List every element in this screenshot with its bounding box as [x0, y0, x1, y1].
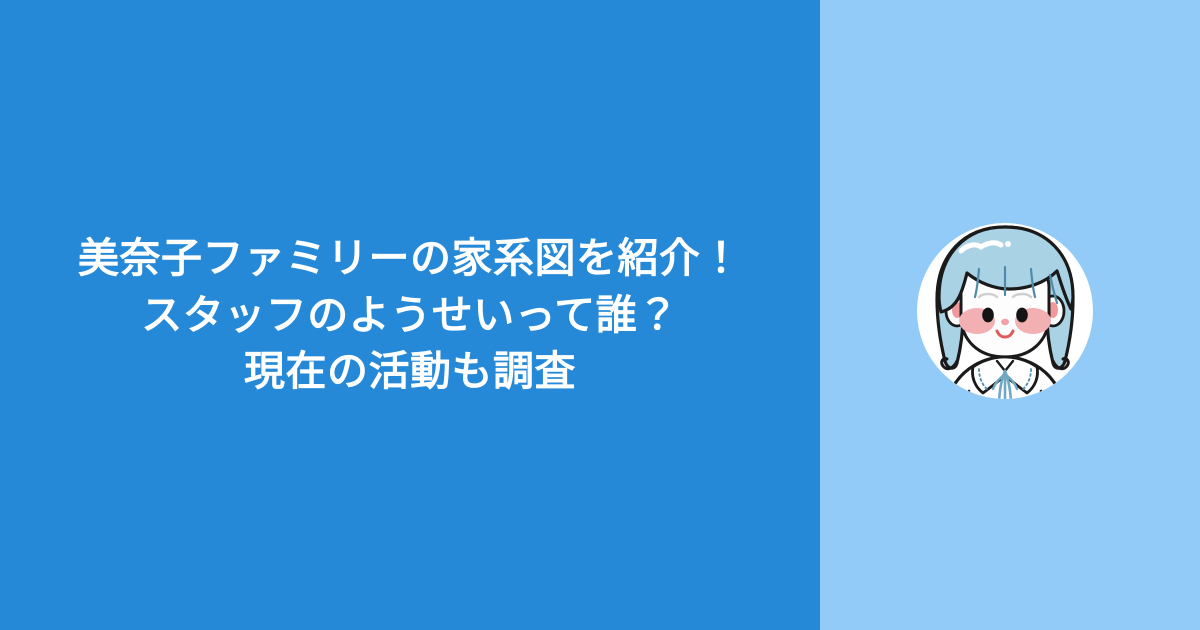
eye-right — [1016, 308, 1028, 323]
girl-avatar-icon — [905, 211, 1105, 411]
avatar-panel — [820, 0, 1200, 630]
sleeve-seam-left — [966, 391, 969, 411]
ogp-thumbnail-card: 美奈子ファミリーの家系図を紹介！ スタッフのようせいって誰？ 現在の活動も調査 — [0, 0, 1200, 630]
headline-panel: 美奈子ファミリーの家系図を紹介！ スタッフのようせいって誰？ 現在の活動も調査 — [0, 0, 820, 630]
headline-line-3: 現在の活動も調査 — [30, 343, 790, 400]
headline-line-2: スタッフのようせいって誰？ — [30, 287, 790, 344]
eye-left — [982, 308, 994, 323]
avatar — [905, 211, 1105, 411]
nose — [1001, 319, 1009, 325]
hair-highlight-dot — [1005, 241, 1011, 247]
page-title: 美奈子ファミリーの家系図を紹介！ スタッフのようせいって誰？ 現在の活動も調査 — [30, 230, 790, 400]
headline-line-1: 美奈子ファミリーの家系図を紹介！ — [30, 230, 790, 287]
sleeve-seam-right — [1041, 391, 1044, 411]
